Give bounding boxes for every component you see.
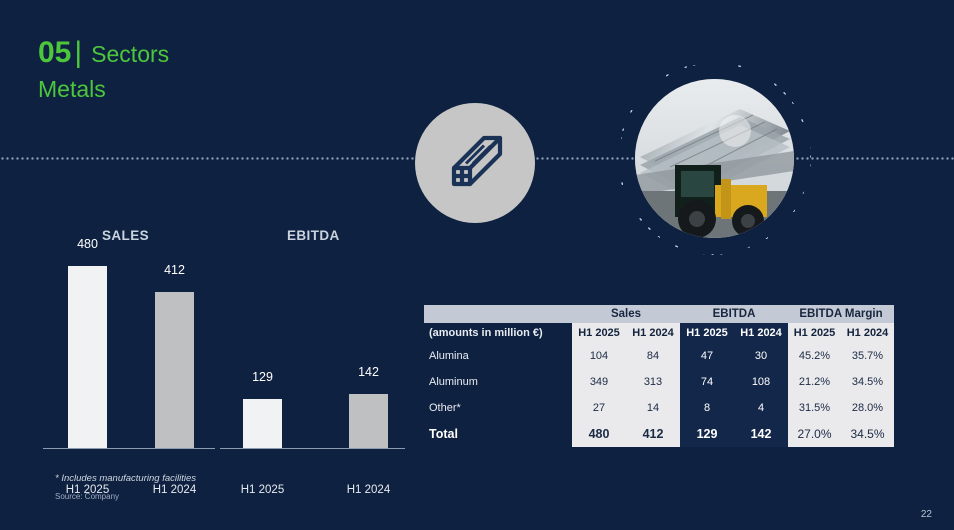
cell-margin-2024: 35.7% (841, 343, 894, 369)
table-row: Other* 27 14 8 4 31.5% 28.0% (424, 395, 894, 421)
title-divider: | (71, 38, 84, 68)
group-header-ebitda-margin: EBITDA Margin (788, 305, 894, 323)
cell-sales-2025: 349 (572, 369, 626, 395)
sector-photo (618, 62, 811, 255)
bar-category-label: H1 2024 (327, 484, 410, 496)
table-column-header-row: (amounts in million €) H1 2025 H1 2024 H… (424, 323, 894, 343)
cell-sales-2024: 313 (626, 369, 680, 395)
col-header-sales-2024: H1 2024 (626, 323, 680, 343)
bar-column (243, 399, 282, 448)
cell-sales-2024: 84 (626, 343, 680, 369)
col-header-sales-2025: H1 2025 (572, 323, 626, 343)
cell-sales-2024: 412 (626, 421, 680, 447)
chart-baseline-sales (43, 448, 215, 449)
row-label: Total (424, 421, 572, 447)
cell-sales-2025: 27 (572, 395, 626, 421)
chart-baseline-ebitda (220, 448, 405, 449)
cell-ebitda-2025: 74 (680, 369, 734, 395)
cell-margin-2024: 28.0% (841, 395, 894, 421)
slide-canvas: 05 | Sectors Metals (0, 0, 954, 530)
title-first-line: 05 | Sectors (38, 38, 169, 68)
bar-sales-h1-2024: 412 H1 2024 (155, 252, 194, 448)
bar-category-label: H1 2024 (133, 484, 216, 496)
cell-ebitda-2025: 47 (680, 343, 734, 369)
table-group-header-row: Sales EBITDA EBITDA Margin (424, 305, 894, 323)
row-label: Other* (424, 395, 572, 421)
chart-footnote: * Includes manufacturing facilities (55, 473, 196, 484)
cell-margin-2025: 21.2% (788, 369, 841, 395)
cell-ebitda-2024: 30 (734, 343, 788, 369)
table-row: Aluminum 349 313 74 108 21.2% 34.5% (424, 369, 894, 395)
cell-sales-2025: 104 (572, 343, 626, 369)
metal-profile-icon (415, 103, 535, 223)
cell-ebitda-2025: 8 (680, 395, 734, 421)
group-header-sales: Sales (572, 305, 680, 323)
bar-value-label: 142 (349, 365, 388, 379)
group-header-blank (424, 305, 572, 323)
section-number: 05 (38, 38, 71, 68)
cell-ebitda-2024: 108 (734, 369, 788, 395)
section-subtitle: Metals (38, 78, 169, 101)
cell-sales-2024: 14 (626, 395, 680, 421)
col-header-ebitda-2025: H1 2025 (680, 323, 734, 343)
bar-column (349, 394, 388, 448)
col-header-ebitda-2024: H1 2024 (734, 323, 788, 343)
bar-ebitda-h1-2025: 129 H1 2025 (243, 252, 282, 448)
cell-ebitda-2024: 4 (734, 395, 788, 421)
sales-ebitda-bar-chart: SALES EBITDA 480 H1 2025 412 H1 2024 129… (40, 222, 410, 472)
bar-ebitda-h1-2024: 142 H1 2024 (349, 252, 388, 448)
sector-financials-table: Sales EBITDA EBITDA Margin (amounts in m… (424, 305, 894, 447)
photo-image (635, 79, 794, 238)
table-row: Alumina 104 84 47 30 45.2% 35.7% (424, 343, 894, 369)
bar-value-label: 480 (68, 237, 107, 251)
cell-margin-2025: 27.0% (788, 421, 841, 447)
chart-source: Source: Company (55, 492, 119, 501)
cell-sales-2025: 480 (572, 421, 626, 447)
bar-column (155, 292, 194, 448)
cell-ebitda-2024: 142 (734, 421, 788, 447)
page-title: 05 | Sectors Metals (38, 38, 169, 101)
cell-margin-2025: 45.2% (788, 343, 841, 369)
cell-margin-2024: 34.5% (841, 421, 894, 447)
bar-column (68, 266, 107, 448)
section-name: Sectors (84, 43, 169, 66)
col-header-margin-2025: H1 2025 (788, 323, 841, 343)
table-unit-label: (amounts in million €) (424, 323, 572, 343)
col-header-margin-2024: H1 2024 (841, 323, 894, 343)
cell-margin-2025: 31.5% (788, 395, 841, 421)
table-total-row: Total 480 412 129 142 27.0% 34.5% (424, 421, 894, 447)
row-label: Aluminum (424, 369, 572, 395)
page-number: 22 (921, 509, 932, 520)
group-header-ebitda: EBITDA (680, 305, 788, 323)
bar-sales-h1-2025: 480 H1 2025 (68, 252, 107, 448)
bar-value-label: 412 (155, 263, 194, 277)
bar-value-label: 129 (243, 370, 282, 384)
chart-group-title-ebitda: EBITDA (287, 228, 340, 243)
row-label: Alumina (424, 343, 572, 369)
cell-ebitda-2025: 129 (680, 421, 734, 447)
chart-group-title-sales: SALES (102, 228, 149, 243)
cell-margin-2024: 34.5% (841, 369, 894, 395)
bar-category-label: H1 2025 (221, 484, 304, 496)
